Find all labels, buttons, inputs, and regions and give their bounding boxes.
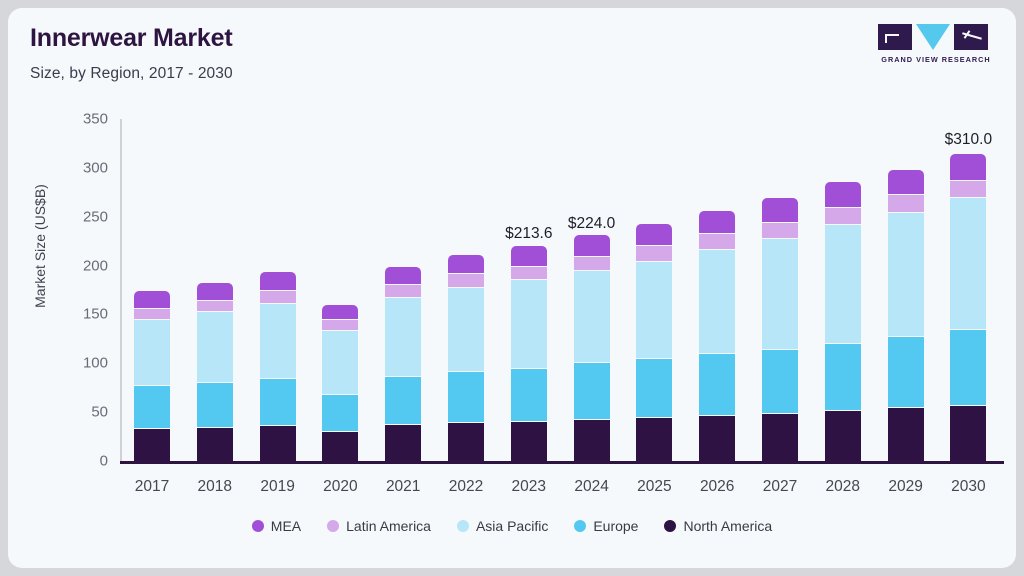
bar-segment[interactable] <box>260 304 296 378</box>
bar-segment[interactable] <box>574 271 610 362</box>
bar-segment[interactable] <box>762 239 798 348</box>
bar-segment[interactable] <box>448 288 484 371</box>
bar-segment[interactable] <box>511 369 547 421</box>
legend-item-asia-pacific[interactable]: Asia Pacific <box>457 518 548 534</box>
legend-item-mea[interactable]: MEA <box>252 518 301 534</box>
bar-group[interactable] <box>574 235 610 461</box>
legend-item-latin-america[interactable]: Latin America <box>327 518 431 534</box>
bar-group[interactable] <box>699 211 735 461</box>
bar-segment[interactable] <box>448 372 484 422</box>
bar-segment[interactable] <box>448 274 484 287</box>
legend-swatch-icon <box>574 520 586 532</box>
bar-segment[interactable] <box>197 283 233 300</box>
legend-item-label: Europe <box>593 518 638 534</box>
bar-segment[interactable] <box>762 414 798 461</box>
bar-group[interactable] <box>134 291 170 461</box>
bar-segment[interactable] <box>260 379 296 425</box>
x-axis-tick: 2020 <box>310 478 370 496</box>
x-axis-tick: 2022 <box>436 478 496 496</box>
x-axis-tick: 2023 <box>499 478 559 496</box>
bar-group[interactable] <box>950 154 986 461</box>
bar-segment[interactable] <box>197 312 233 381</box>
bar-segment[interactable] <box>134 309 170 320</box>
legend-swatch-icon <box>457 520 469 532</box>
x-axis-tick: 2024 <box>562 478 622 496</box>
bar-segment[interactable] <box>699 234 735 249</box>
bar-segment[interactable] <box>385 425 421 461</box>
bar-value-label: $224.0 <box>547 215 637 233</box>
legend-item-europe[interactable]: Europe <box>574 518 638 534</box>
bar-segment[interactable] <box>762 350 798 414</box>
bar-segment[interactable] <box>636 262 672 359</box>
bar-segment[interactable] <box>197 428 233 461</box>
bar-segment[interactable] <box>322 320 358 330</box>
x-axis-tick: 2018 <box>185 478 245 496</box>
bar-segment[interactable] <box>825 208 861 225</box>
bar-segment[interactable] <box>888 170 924 194</box>
bar-segment[interactable] <box>134 429 170 461</box>
legend-item-label: North America <box>683 518 772 534</box>
bar-segment[interactable] <box>574 235 610 256</box>
bar-segment[interactable] <box>825 225 861 342</box>
legend-swatch-icon <box>252 520 264 532</box>
bar-group[interactable] <box>888 170 924 461</box>
legend-item-north-america[interactable]: North America <box>664 518 772 534</box>
x-axis-tick: 2030 <box>938 478 998 496</box>
bar-segment[interactable] <box>260 291 296 303</box>
bar-segment[interactable] <box>385 267 421 285</box>
bar-segment[interactable] <box>699 250 735 354</box>
bar-segment[interactable] <box>322 432 358 461</box>
bar-segment[interactable] <box>762 223 798 239</box>
bar-segment[interactable] <box>636 359 672 417</box>
legend-item-label: Asia Pacific <box>476 518 548 534</box>
bar-segment[interactable] <box>511 267 547 280</box>
x-axis-tick: 2025 <box>624 478 684 496</box>
bar-segment[interactable] <box>448 255 484 274</box>
x-axis-tick: 2026 <box>687 478 747 496</box>
bar-segment[interactable] <box>950 406 986 461</box>
bar-segment[interactable] <box>511 246 547 266</box>
bar-segment[interactable] <box>134 320 170 384</box>
bar-value-label: $310.0 <box>923 131 1013 149</box>
legend-swatch-icon <box>664 520 676 532</box>
bar-segment[interactable] <box>950 330 986 405</box>
chart-plot-area: Market Size (US$B) 050100150200250300350… <box>8 8 1016 568</box>
bar-group[interactable] <box>448 255 484 461</box>
bar-segment[interactable] <box>636 246 672 261</box>
bar-segment[interactable] <box>762 198 798 221</box>
bar-group[interactable] <box>385 267 421 461</box>
bar-segment[interactable] <box>511 280 547 368</box>
x-axis-tick: 2027 <box>750 478 810 496</box>
x-axis-tick: 2017 <box>122 478 182 496</box>
bar-segment[interactable] <box>888 337 924 407</box>
bar-segment[interactable] <box>197 383 233 427</box>
bar-segment[interactable] <box>825 411 861 461</box>
bar-segment[interactable] <box>888 213 924 336</box>
bar-segment[interactable] <box>699 211 735 233</box>
bar-segment[interactable] <box>385 377 421 424</box>
bar-segment[interactable] <box>950 181 986 198</box>
x-axis-tick: 2021 <box>373 478 433 496</box>
chart-card: Innerwear Market Size, by Region, 2017 -… <box>8 8 1016 568</box>
bar-segment[interactable] <box>385 285 421 297</box>
bar-group[interactable] <box>636 224 672 462</box>
bar-group[interactable] <box>825 182 861 461</box>
bar-segment[interactable] <box>260 426 296 461</box>
bar-segment[interactable] <box>574 420 610 461</box>
bar-group[interactable] <box>511 246 547 461</box>
bar-segment[interactable] <box>825 182 861 206</box>
legend-swatch-icon <box>327 520 339 532</box>
chart-legend: MEALatin AmericaAsia PacificEuropeNorth … <box>8 518 1016 534</box>
bar-segment[interactable] <box>888 195 924 212</box>
bar-segment[interactable] <box>322 331 358 394</box>
bar-segment[interactable] <box>699 354 735 415</box>
bar-segment[interactable] <box>888 408 924 461</box>
bar-segment[interactable] <box>448 423 484 461</box>
bar-segment[interactable] <box>322 395 358 431</box>
bar-segment[interactable] <box>134 291 170 308</box>
bar-segment[interactable] <box>322 305 358 320</box>
bar-segment[interactable] <box>636 418 672 461</box>
bar-segment[interactable] <box>134 386 170 428</box>
bar-segment[interactable] <box>260 272 296 290</box>
bar-segment[interactable] <box>574 257 610 271</box>
bar-group[interactable] <box>762 198 798 461</box>
bar-segment[interactable] <box>574 363 610 419</box>
legend-item-label: Latin America <box>346 518 431 534</box>
bar-segment[interactable] <box>950 154 986 179</box>
x-axis-tick: 2019 <box>248 478 308 496</box>
x-axis-tick: 2028 <box>813 478 873 496</box>
x-axis-tick: 2029 <box>876 478 936 496</box>
bar-segment[interactable] <box>825 344 861 410</box>
bar-group[interactable] <box>260 272 296 461</box>
bar-segment[interactable] <box>385 298 421 376</box>
bar-segment[interactable] <box>699 416 735 461</box>
bar-segment[interactable] <box>950 198 986 329</box>
bar-group[interactable] <box>197 283 233 461</box>
legend-item-label: MEA <box>271 518 301 534</box>
bar-segment[interactable] <box>636 224 672 245</box>
bar-group[interactable] <box>322 305 358 461</box>
bar-segment[interactable] <box>197 301 233 312</box>
bar-segment[interactable] <box>511 422 547 461</box>
